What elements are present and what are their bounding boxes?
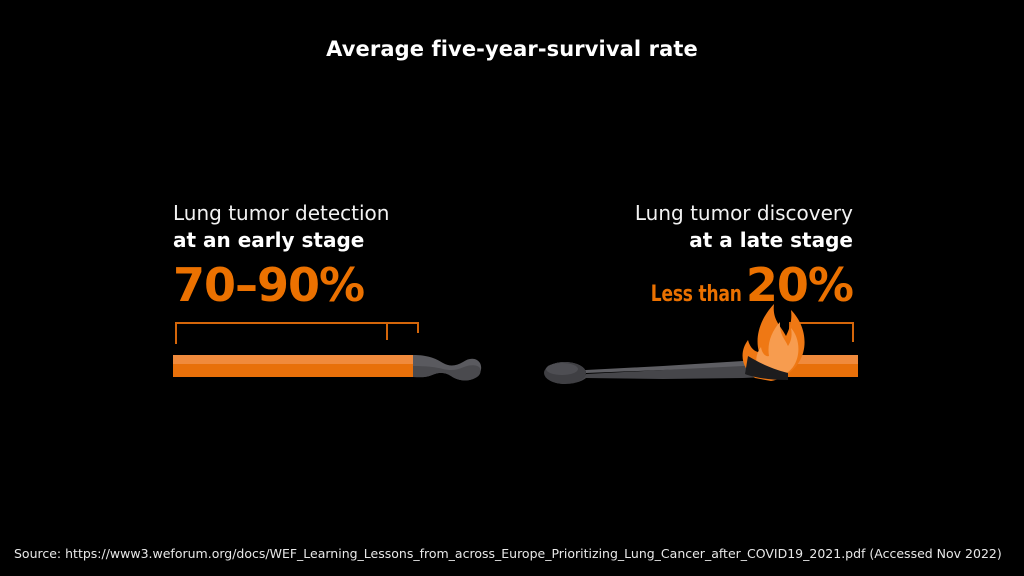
panel-late-heading-line-2: at a late stage bbox=[533, 227, 853, 253]
panel-early-stat-value: 70–90% bbox=[173, 262, 364, 308]
page-title: Average five-year-survival rate bbox=[0, 37, 1024, 61]
panel-early-heading-line-1: Lung tumor detection bbox=[173, 200, 493, 226]
matchstick-unburnt bbox=[173, 344, 483, 392]
panel-early-heading-line-2: at an early stage bbox=[173, 227, 493, 253]
panel-early-stage: Lung tumor detection at an early stage 7… bbox=[173, 200, 493, 319]
panel-late-heading-line-1: Lung tumor discovery bbox=[533, 200, 853, 226]
infographic-slide: Average five-year-survival rate Lung tum… bbox=[0, 0, 1024, 576]
matchstick-burnt-with-flame bbox=[543, 290, 858, 395]
source-footnote: Source: https://www3.weforum.org/docs/WE… bbox=[14, 546, 1002, 561]
bracket-early-range bbox=[175, 322, 419, 344]
panel-early-stat: 70–90% bbox=[173, 262, 493, 319]
